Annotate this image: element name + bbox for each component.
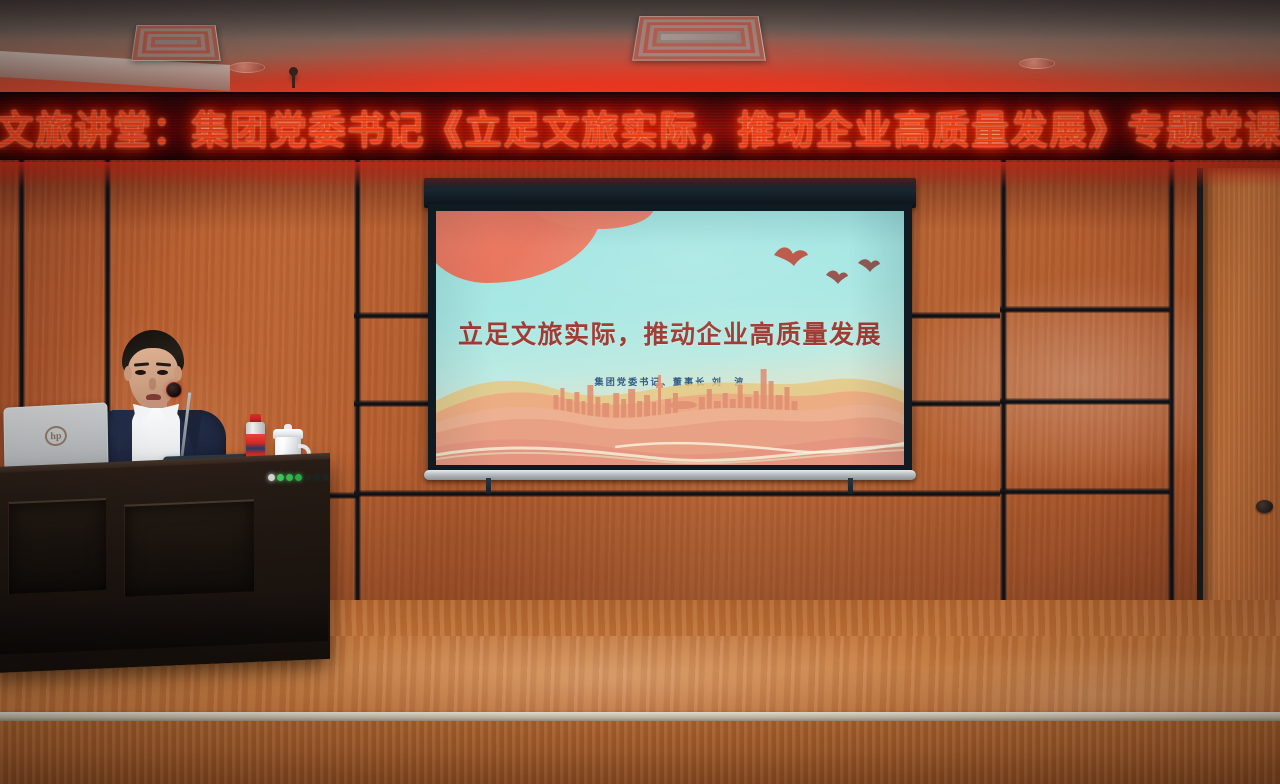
screen-frame: 立足文旅实际，推动企业高质量发展 集团党委书记、董事长 刘 波 2023年11月 (428, 204, 912, 472)
speaker-ear (174, 366, 182, 381)
stage-edge-strip (0, 712, 1280, 721)
hp-logo-icon: hp (45, 425, 67, 446)
room-door[interactable] (1197, 168, 1280, 640)
projection-screen: 立足文旅实际，推动企业高质量发展 集团党委书记、董事长 刘 波 2023年11月 (424, 178, 916, 488)
door-handle-icon[interactable] (1256, 500, 1273, 513)
wall-seam-horizontal (1000, 398, 1170, 405)
podium-led (304, 474, 311, 481)
speaker-nose (149, 378, 156, 390)
ceiling-speaker-icon (229, 62, 265, 73)
podium-panel (8, 498, 106, 594)
lecture-hall-photo: 文旅讲堂：集团党委书记《立足文旅实际，推动企业高质量发展》专题党课 (0, 0, 1280, 784)
led-banner-text: 文旅讲堂：集团党委书记《立足文旅实际，推动企业高质量发展》专题党课 (0, 98, 1280, 155)
slide-birds-group (766, 237, 886, 297)
ceiling-speaker-icon (1019, 58, 1055, 69)
wall-seam-horizontal (1000, 488, 1170, 495)
air-vent-icon (131, 25, 221, 61)
podium-led (268, 474, 275, 481)
led-banner: 文旅讲堂：集团党委书记《立足文旅实际，推动企业高质量发展》专题党课 (0, 92, 1280, 162)
screen-support-leg (486, 478, 491, 494)
podium-panel (124, 499, 254, 596)
podium-indicator-lights (268, 474, 329, 481)
speaker-eye (157, 370, 168, 375)
screen-weight-bar (424, 470, 916, 480)
podium-led (277, 474, 284, 481)
microphone-head-icon (166, 382, 182, 398)
podium-led (322, 474, 329, 481)
speaker-eye (135, 370, 146, 375)
slide-title: 立足文旅实际，推动企业高质量发展 (436, 315, 904, 351)
wall-seam-horizontal (1000, 306, 1170, 313)
podium-led (295, 474, 302, 481)
bird-icon (766, 237, 886, 297)
podium-led (286, 474, 293, 481)
speaker-shirt-collar (160, 404, 185, 430)
podium-led (313, 474, 320, 481)
sprinkler-icon (289, 67, 298, 76)
stage-front-panel (0, 721, 1280, 784)
air-vent-icon (632, 16, 766, 61)
presentation-slide: 立足文旅实际，推动企业高质量发展 集团党委书记、董事长 刘 波 2023年11月 (436, 211, 904, 465)
wall-seam-horizontal (354, 490, 1000, 497)
speaker-ear (124, 366, 132, 381)
slide-hills-graphic (436, 355, 904, 465)
screen-support-leg (848, 478, 853, 494)
